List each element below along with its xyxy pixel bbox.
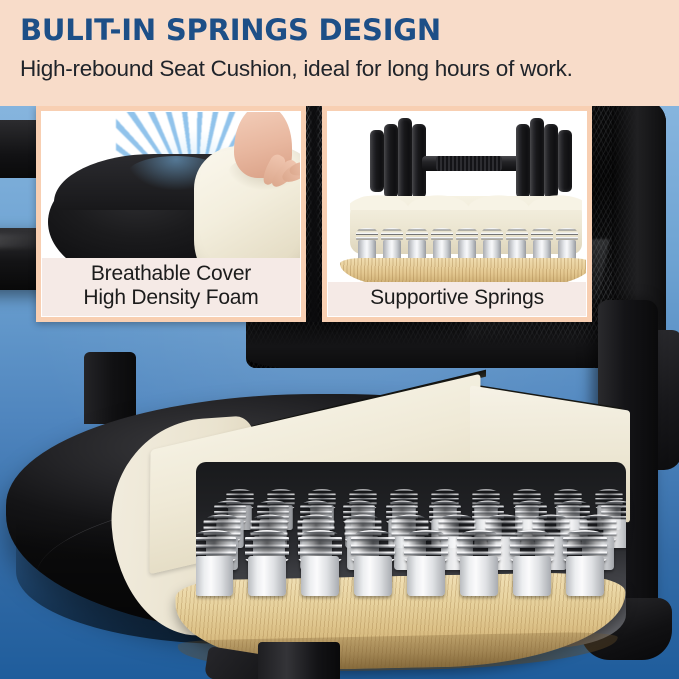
panel-springs-artwork <box>328 112 586 282</box>
panel-foam-caption: Breathable Cover High Density Foam <box>42 258 300 316</box>
dumbbell-plate <box>384 124 398 198</box>
spring-coil-icon <box>510 530 554 596</box>
panel-foam-caption-line2: High Density Foam <box>44 286 298 310</box>
seat-assembly <box>0 390 679 679</box>
product-infographic: Breathable Cover High Density Foam <box>0 0 679 679</box>
spring-coil-icon <box>351 530 395 596</box>
panel-gap-shadow <box>306 106 322 322</box>
panel-foam-inner: Breathable Cover High Density Foam <box>41 111 301 317</box>
plywood-base-icon <box>340 258 586 282</box>
spring-sleeve <box>196 556 233 596</box>
spring-sleeve <box>248 556 286 596</box>
panel-springs-caption-line1: Supportive Springs <box>330 286 584 310</box>
spring-coil-icon <box>404 530 448 596</box>
page-title: BULIT-IN SPRINGS DESIGN <box>20 13 441 47</box>
panel-springs-inner: Supportive Springs <box>327 111 587 317</box>
dumbbell-plate <box>558 130 572 192</box>
spring-coil-icon <box>563 530 607 596</box>
header-banner: BULIT-IN SPRINGS DESIGN High-rebound Sea… <box>0 0 679 106</box>
spring-sleeve <box>407 556 445 596</box>
panel-springs-caption: Supportive Springs <box>328 282 586 316</box>
dumbbell-grip <box>436 156 502 171</box>
spring-sleeve <box>301 556 339 596</box>
spring-sleeve <box>566 556 604 596</box>
dumbbell-plate <box>370 130 384 192</box>
inset-panel-foam: Breathable Cover High Density Foam <box>36 106 306 322</box>
panel-foam-caption-line1: Breathable Cover <box>44 262 298 286</box>
dumbbell-plate <box>516 124 530 198</box>
panel-foam-wave-top <box>350 190 582 210</box>
spring-coil-icon <box>245 530 289 596</box>
hand-press-icon <box>232 112 300 198</box>
inset-panel-springs: Supportive Springs <box>322 106 592 322</box>
spring-coil-icon <box>298 530 342 596</box>
spring-sleeve <box>513 556 551 596</box>
spring-coil-icon <box>196 530 236 596</box>
gas-cylinder <box>258 642 340 679</box>
spring-coil-icon <box>457 530 501 596</box>
spring-sleeve <box>354 556 392 596</box>
dumbbell-plate <box>544 124 558 198</box>
panel-foam-artwork <box>42 112 300 258</box>
spring-sleeve <box>460 556 498 596</box>
page-subtitle: High-rebound Seat Cushion, ideal for lon… <box>20 56 573 82</box>
